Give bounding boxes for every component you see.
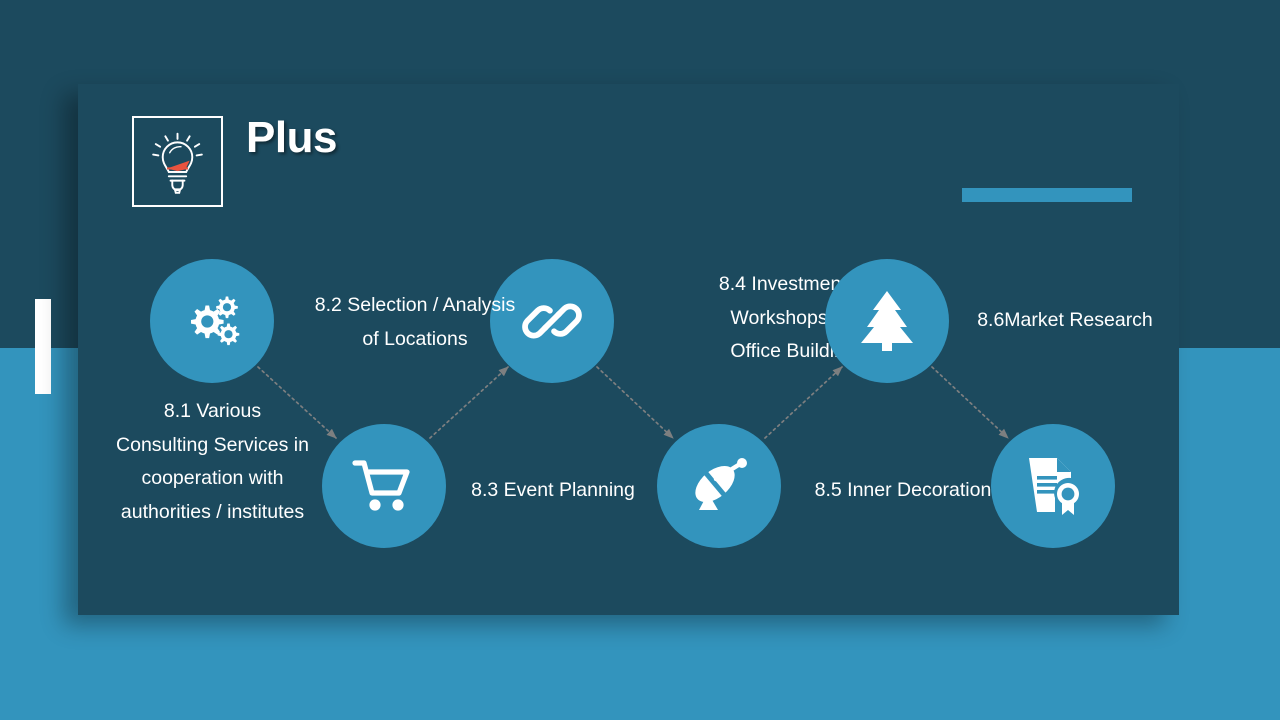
node-circle-8-1[interactable] [150, 259, 274, 383]
node-label-8-1: 8.1 Various Consulting Services in coope… [85, 395, 340, 529]
process-diagram: 8.1 Various Consulting Services in coope… [78, 84, 1179, 615]
node-label-8-6: 8.6Market Research [940, 304, 1190, 338]
node-circle-8-3[interactable] [322, 424, 446, 548]
left-accent-bar [35, 299, 51, 394]
shopping-cart-icon [351, 455, 417, 517]
node-label-8-3: 8.3 Event Planning [453, 474, 653, 508]
node-label-8-2: 8.2 Selection / Analysis of Locations [277, 289, 553, 356]
connector-8-5-to-8-6 [932, 367, 1008, 438]
connector-8-4-to-8-5 [765, 367, 842, 438]
pine-tree-icon [856, 288, 918, 354]
node-circle-8-4[interactable] [657, 424, 781, 548]
satellite-dish-icon [686, 453, 752, 519]
slide-canvas: Plus [0, 0, 1280, 720]
gears-icon [176, 285, 248, 357]
certificate-icon [1021, 454, 1085, 518]
content-panel: Plus [78, 84, 1179, 615]
connector-8-2-to-8-4 [597, 367, 673, 438]
connector-8-3-to-8-2 [430, 367, 508, 438]
node-circle-8-5[interactable] [825, 259, 949, 383]
node-circle-8-6[interactable] [991, 424, 1115, 548]
